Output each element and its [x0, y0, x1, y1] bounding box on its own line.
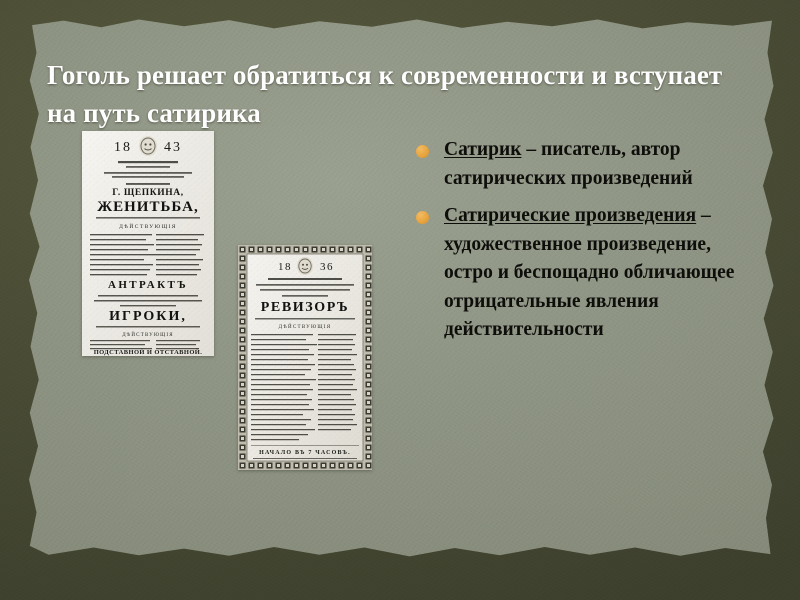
svg-text:43: 43: [164, 140, 182, 155]
svg-text:18: 18: [114, 140, 132, 155]
bullet-dot-icon: [416, 211, 429, 224]
svg-text:Г. ЩЕПКИНА,: Г. ЩЕПКИНА,: [112, 188, 183, 198]
content-body: Сатирик – писатель, автор сатирических п…: [414, 136, 754, 354]
svg-text:ДѢЙСТВУЮЩІЯ: ДѢЙСТВУЮЩІЯ: [122, 332, 174, 338]
svg-text:РЕВИЗОРЪ: РЕВИЗОРЪ: [261, 300, 349, 315]
bullet-term: Сатирик: [444, 139, 521, 160]
svg-text:АНТРАКТЪ: АНТРАКТЪ: [108, 279, 188, 291]
svg-text:НАЧАЛО ВЪ 7 ЧАСОВЪ.: НАЧАЛО ВЪ 7 ЧАСОВЪ.: [259, 450, 351, 456]
slide-canvas: Гоголь решает обратиться к современности…: [0, 0, 800, 600]
svg-text:ДѢЙСТВУЮЩІЯ: ДѢЙСТВУЮЩІЯ: [119, 222, 177, 230]
page-title: Гоголь решает обратиться к современности…: [47, 56, 747, 132]
svg-text:ПОДСТАВНОЙ И ОТСТАВНОЙ.: ПОДСТАВНОЙ И ОТСТАВНОЙ.: [94, 348, 203, 356]
svg-text:ИГРОКИ,: ИГРОКИ,: [109, 309, 187, 324]
svg-text:36: 36: [320, 261, 334, 273]
bullet-dot-icon: [416, 145, 429, 158]
playbill-revizor-image: 18 36 РЕВИЗОРЪ ДѢЙСТВУЮЩІЯ: [238, 245, 372, 470]
playbill-zhenitba-image: 18 43 Г. ЩЕПКИНА, ЖЕНИТЬБА,: [82, 131, 214, 356]
bullet-term: Сатирические произведения: [444, 205, 696, 226]
svg-text:ЖЕНИТЬБА,: ЖЕНИТЬБА,: [97, 199, 198, 215]
svg-text:18: 18: [278, 261, 292, 273]
svg-text:ДѢЙСТВУЮЩІЯ: ДѢЙСТВУЮЩІЯ: [279, 324, 332, 330]
list-item: Сатирик – писатель, автор сатирических п…: [414, 136, 754, 193]
list-item: Сатирические произведения – художественн…: [414, 202, 754, 345]
